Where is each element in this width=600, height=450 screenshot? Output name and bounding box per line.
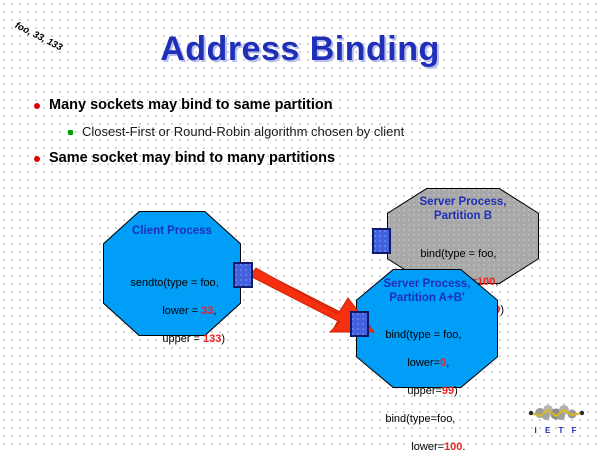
socket-client[interactable]	[233, 262, 253, 288]
server-ab-bind1-lower-label: lower=	[407, 357, 440, 369]
server-ab-bind1-name: bind(type = foo,	[385, 329, 461, 341]
bullet-item-1-sub: Closest-First or Round-Robin algorithm c…	[68, 124, 404, 139]
client-lower-label: lower =	[162, 305, 201, 317]
bullet-dot-green	[68, 130, 73, 135]
server-ab-bind2-lower-value: 100	[444, 441, 462, 450]
client-upper-label: upper =	[162, 333, 203, 345]
server-ab-bind1-upper-suffix: )	[454, 385, 458, 397]
client-upper-suffix: )	[221, 333, 225, 345]
client-lower-value: 33	[201, 305, 213, 317]
bullet-text-1: Many sockets may bind to same partition	[49, 97, 333, 113]
server-b-content: Server Process, Partition B bind(type = …	[388, 189, 538, 283]
socket-server-b[interactable]	[372, 228, 391, 254]
server-b-call-name: bind(type = foo,	[420, 248, 496, 260]
bullet-item-1: Many sockets may bind to same partition	[34, 97, 333, 113]
client-sendto-call: sendto(type = foo, lower = 33, upper = 1…	[104, 262, 248, 360]
bullet-item-2: Same socket may bind to many partitions	[34, 150, 335, 166]
client-title: Client Process	[104, 224, 240, 238]
server-b-title-line2: Partition B	[388, 209, 538, 223]
server-ab-bind1-lower-suffix: ,	[446, 357, 449, 369]
ietf-logo: I E T F	[528, 404, 586, 440]
server-ab-bind2-lower-suffix: ,	[462, 441, 465, 450]
server-ab-bind2-name: bind(type=foo,	[385, 413, 455, 425]
slide-canvas: Address Binding Many sockets may bind to…	[0, 0, 600, 450]
ietf-logo-text: I E T F	[528, 426, 586, 435]
server-ab-bind2-lower-label: lower=	[411, 441, 444, 450]
client-content: Client Process sendto(type = foo, lower …	[104, 212, 240, 335]
client-call-name: sendto(type = foo,	[130, 277, 218, 289]
ietf-logo-graphic	[528, 404, 586, 426]
client-lower-suffix: ,	[213, 305, 216, 317]
server-ab-bind-calls: bind(type = foo, lower=0, upper=99) bind…	[357, 314, 507, 450]
bullet-dot-red	[34, 103, 40, 109]
page-title: Address Binding	[0, 30, 600, 69]
bullet-text-1-sub: Closest-First or Round-Robin algorithm c…	[82, 124, 404, 139]
server-ab-bind1-upper-label: upper=	[407, 385, 442, 397]
client-upper-value: 133	[203, 333, 221, 345]
server-ab-bind1-upper-value: 99	[442, 385, 454, 397]
server-b-title-line1: Server Process,	[388, 195, 538, 209]
socket-server-ab[interactable]	[350, 311, 369, 337]
bullet-text-2: Same socket may bind to many partitions	[49, 150, 335, 166]
bullet-dot-red	[34, 156, 40, 162]
